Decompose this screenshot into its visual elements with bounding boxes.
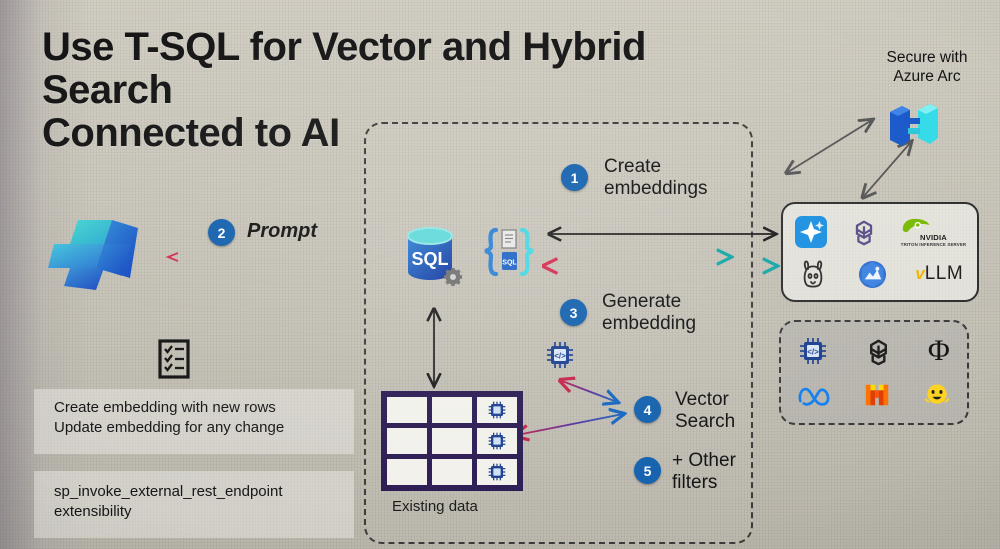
openai-icon [849,217,879,247]
step-1-label-line1: Create [604,156,708,178]
grid-cell [432,428,472,454]
callout2-line2: extensibility [54,502,354,522]
step-1-label-line2: embeddings [604,178,708,200]
step-3-label-line1: Generate [602,291,696,313]
azure-ai-foundry-icon [794,215,828,249]
step-badge-4: 4 [634,396,661,423]
arc-label-line1: Secure with [862,48,992,67]
grid-cell [432,397,472,423]
huggingface-icon [923,381,951,409]
step-5-label-line2: filters [672,472,736,494]
step-2-number: 2 [218,225,226,241]
models-row-2 [781,374,967,416]
sql-database-gear-icon: SQL [404,225,468,297]
ai-panel-row-1: NVIDIA TRITON INFERENCE SERVER [783,212,977,252]
microsoft-fabric-icon [52,214,152,294]
grid-cell [432,459,472,485]
models-row-1: </> Φ [781,330,967,372]
azure-arc-icon [884,100,944,152]
slide-photo: Use T-SQL for Vector and Hybrid Search C… [0,0,1000,549]
vllm-logo: v LLM [915,263,963,285]
title-line-1: Use T-SQL for Vector and Hybrid Search [42,26,782,112]
ollama-llama-icon [797,258,829,290]
callout2-line1: sp_invoke_external_rest_endpoint [54,482,354,502]
cpu-chip-icon [487,431,507,451]
step-1-label: Create embeddings [604,156,708,201]
step-4-label: Vector Search [675,389,735,434]
ai-panel-row-2: v LLM [783,254,977,294]
cpu-chip-icon: </> [798,336,828,366]
step-badge-2: 2 [208,219,235,246]
callout1-line2: Update embedding for any change [54,418,354,438]
arrow-arc-left [788,120,872,172]
cpu-chip-icon [487,462,507,482]
checklist-icon [158,339,190,379]
openai-icon [863,336,894,367]
svg-text:SQL: SQL [502,260,517,267]
step-5-label-line1: + Other [672,450,736,472]
grid-cell [387,459,427,485]
meta-icon [797,382,831,408]
arc-label-line2: Azure Arc [862,67,992,86]
callout-extensibility: sp_invoke_external_rest_endpoint extensi… [34,471,354,538]
callout-embedding-rules: Create embedding with new rows Update em… [34,389,354,454]
step-badge-5: 5 [634,457,661,484]
svg-text:</>: </> [807,348,819,357]
json-braces-sql-icon: SQL [478,224,540,288]
vllm-v: v [915,264,924,284]
ai-inference-panel: NVIDIA TRITON INFERENCE SERVER [781,202,979,302]
prompt-label: Prompt [247,220,317,243]
nvidia-triton-logo: NVIDIA TRITON INFERENCE SERVER [901,217,967,247]
svg-text:SQL: SQL [411,249,448,269]
azure-arc-label: Secure with Azure Arc [862,48,992,87]
vllm-caption: LLM [925,263,963,285]
cpu-chip-icon [487,400,507,420]
step-1-number: 1 [571,170,579,186]
cpu-chip-icon: </> [545,340,575,370]
nvidia-caption: NVIDIA [901,234,967,242]
phi-icon: Φ [928,336,950,366]
nvidia-icon [901,217,931,234]
step-3-number: 3 [570,305,578,321]
callout1-line1: Create embedding with new rows [54,398,354,418]
grid-cell-chip [477,397,517,423]
step-4-label-line2: Search [675,411,735,433]
existing-data-grid [381,391,523,491]
mistral-cloud-icon [857,259,888,290]
step-badge-3: 3 [560,299,587,326]
models-panel: </> Φ [779,320,969,425]
step-4-label-line1: Vector [675,389,735,411]
existing-data-label: Existing data [392,498,478,515]
grid-cell [387,397,427,423]
step-3-label-line2: embedding [602,313,696,335]
step-5-number: 5 [644,463,652,479]
grid-cell-chip [477,428,517,454]
nvidia-subcaption: TRITON INFERENCE SERVER [901,243,967,247]
svg-text:</>: </> [554,352,566,361]
mistral-m-icon [862,381,892,409]
grid-cell-chip [477,459,517,485]
step-3-label: Generate embedding [602,291,696,336]
step-5-label: + Other filters [672,450,736,495]
step-4-number: 4 [644,402,652,418]
step-badge-1: 1 [561,164,588,191]
grid-cell [387,428,427,454]
